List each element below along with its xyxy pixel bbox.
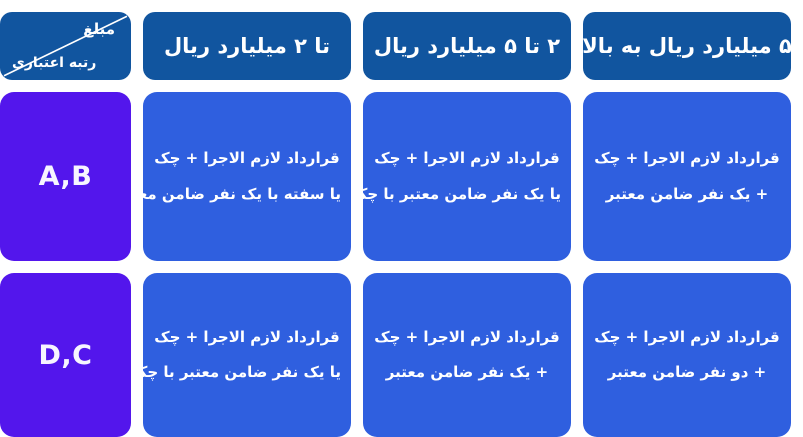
column-header-label: ۲ تا ۵ میلیارد ریال	[374, 33, 560, 59]
cell-lines: قرارداد لازم الاجرا + چک یا یک نفر ضامن …	[153, 329, 341, 382]
cell-line-2: یا یک نفر ضامن معتبر با چک	[373, 186, 561, 203]
corner-credit-rating-label: رتبه اعتباری	[12, 56, 96, 70]
cell-line-2: + دو نفر ضامن معتبر	[593, 364, 781, 381]
cell-line-1: قرارداد لازم الاجرا + چک	[373, 329, 561, 346]
corner-header-cell: مبلغ رتبه اعتباری	[0, 12, 131, 80]
cell-line-2: + یک نفر ضامن معتبر	[373, 364, 561, 381]
cell-lines: قرارداد لازم الاجرا + چک یا یک نفر ضامن …	[373, 150, 561, 203]
table-cell-r1-c3: قرارداد لازم الاجرا + چک یا سفته با یک ن…	[143, 92, 351, 261]
rating-label: A,B	[39, 161, 93, 192]
table-cell-r2-c1: قرارداد لازم الاجرا + چک + دو نفر ضامن م…	[583, 273, 791, 437]
cell-line-2: یا یک نفر ضامن معتبر با چک	[153, 364, 341, 381]
cell-lines: قرارداد لازم الاجرا + چک + یک نفر ضامن م…	[593, 150, 781, 203]
cell-line-2: یا سفته با یک نفر ضامن معتبر	[153, 186, 341, 203]
column-header-label: تا ۲ میلیارد ریال	[164, 33, 330, 59]
cell-lines: قرارداد لازم الاجرا + چک + یک نفر ضامن م…	[373, 329, 561, 382]
cell-lines: قرارداد لازم الاجرا + چک یا سفته با یک ن…	[153, 150, 341, 203]
collateral-matrix-table: ۵ میلیارد ریال به بالا ۲ تا ۵ میلیارد ری…	[0, 0, 803, 437]
column-header-2b-to-5b: ۲ تا ۵ میلیارد ریال	[363, 12, 571, 80]
row-header-rating-dc: D,C	[0, 273, 131, 437]
column-header-label: ۵ میلیارد ریال به بالا	[583, 33, 791, 59]
cell-line-1: قرارداد لازم الاجرا + چک	[593, 150, 781, 167]
cell-line-1: قرارداد لازم الاجرا + چک	[593, 329, 781, 346]
table-cell-r2-c2: قرارداد لازم الاجرا + چک + یک نفر ضامن م…	[363, 273, 571, 437]
row-header-rating-ab: A,B	[0, 92, 131, 261]
cell-line-1: قرارداد لازم الاجرا + چک	[153, 150, 341, 167]
cell-lines: قرارداد لازم الاجرا + چک + دو نفر ضامن م…	[593, 329, 781, 382]
cell-line-2: + یک نفر ضامن معتبر	[593, 186, 781, 203]
cell-line-1: قرارداد لازم الاجرا + چک	[153, 329, 341, 346]
column-header-above-5b: ۵ میلیارد ریال به بالا	[583, 12, 791, 80]
corner-amount-label: مبلغ	[83, 22, 115, 37]
table-cell-r1-c2: قرارداد لازم الاجرا + چک یا یک نفر ضامن …	[363, 92, 571, 261]
column-header-up-to-2b: تا ۲ میلیارد ریال	[143, 12, 351, 80]
table-cell-r2-c3: قرارداد لازم الاجرا + چک یا یک نفر ضامن …	[143, 273, 351, 437]
table-cell-r1-c1: قرارداد لازم الاجرا + چک + یک نفر ضامن م…	[583, 92, 791, 261]
cell-line-1: قرارداد لازم الاجرا + چک	[373, 150, 561, 167]
rating-label: D,C	[39, 340, 93, 371]
